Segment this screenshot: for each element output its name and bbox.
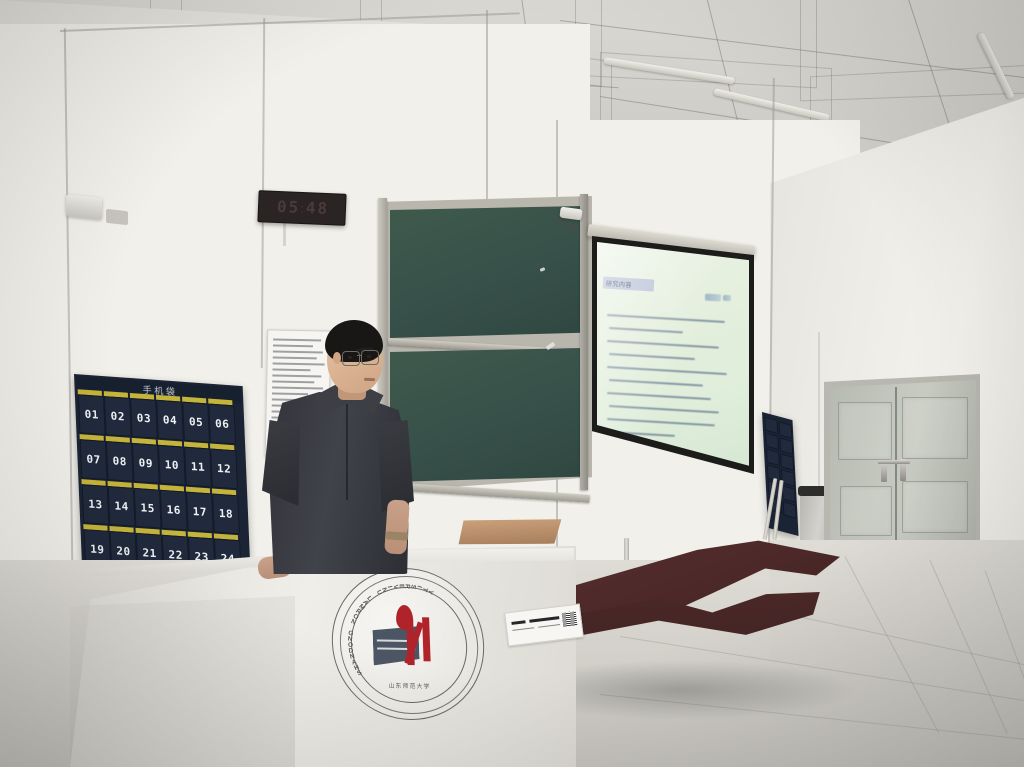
pocket-number: 06 xyxy=(215,417,230,431)
presenter-wristwatch xyxy=(386,531,409,541)
pocket-number: 18 xyxy=(219,507,234,521)
emblem-n-right xyxy=(422,617,431,661)
phone-pocket[interactable]: 07 xyxy=(80,439,108,480)
presenter-mouth xyxy=(364,378,375,381)
phone-pocket[interactable]: 05 xyxy=(182,402,210,443)
pocket-number: 19 xyxy=(90,542,105,556)
phone-pocket[interactable]: 08 xyxy=(106,441,134,482)
pocket-number: 20 xyxy=(116,544,131,558)
double-door[interactable] xyxy=(830,380,976,564)
presenter-eye xyxy=(348,356,352,359)
presenter-left-forearm xyxy=(384,499,410,554)
phone-pocket[interactable]: 06 xyxy=(208,404,236,445)
emblem-arc-char: L xyxy=(365,595,373,602)
digital-wall-clock: 0 5 : 4 8 xyxy=(257,190,346,226)
phone-pocket[interactable]: 02 xyxy=(104,396,132,437)
clock-digit: 4 xyxy=(305,200,315,216)
chalkboard-surface-lower xyxy=(390,348,582,482)
classroom-photo: 0 5 : 4 8 手 机 袋 010203040506070809101112… xyxy=(0,0,1024,767)
emblem-arc-char: Y xyxy=(426,588,434,595)
pocket-number: 17 xyxy=(192,505,207,519)
phone-pocket[interactable]: 04 xyxy=(156,400,184,441)
wall-sensor-unit xyxy=(66,194,102,220)
pocket-number: 14 xyxy=(114,499,129,513)
door-panel xyxy=(902,397,968,459)
phone-pocket[interactable]: 18 xyxy=(212,493,240,534)
door-panel xyxy=(902,481,968,533)
pocket-number: 09 xyxy=(138,456,153,470)
eyeglasses-bridge xyxy=(357,355,362,356)
pocket-number: 15 xyxy=(140,501,155,515)
phone-pocket[interactable]: 10 xyxy=(158,445,186,486)
door-center-gap xyxy=(895,387,897,555)
emblem-chinese-text: 山东师范大学 xyxy=(388,681,430,691)
chalkboard-surface-upper xyxy=(390,206,582,338)
pocket-number: 16 xyxy=(166,503,181,517)
presenter-right-sleeve xyxy=(378,420,414,512)
pocket-number: 04 xyxy=(163,413,178,427)
presenter-eye xyxy=(367,355,371,358)
pocket-number: 10 xyxy=(164,458,179,472)
pocket-number: 12 xyxy=(217,462,232,476)
phone-pocket[interactable]: 12 xyxy=(210,449,238,490)
pocket-number: 13 xyxy=(88,498,103,512)
phone-pocket[interactable]: 09 xyxy=(132,443,160,484)
door-panel xyxy=(838,402,892,460)
phone-pocket[interactable]: 11 xyxy=(184,447,212,488)
phone-pocket[interactable]: 03 xyxy=(130,398,158,439)
pocket-number: 03 xyxy=(136,411,151,425)
pocket-number: 02 xyxy=(110,409,125,423)
door-panel xyxy=(840,486,892,536)
clock-digit: 8 xyxy=(317,201,327,217)
presenter-ear xyxy=(333,352,341,364)
pocket-number: 01 xyxy=(84,408,99,422)
university-emblem: SHANDONG NORMAL UNIVERSITY 山东师范大学 xyxy=(329,567,486,722)
pocket-number: 05 xyxy=(189,415,204,429)
phone-pocket[interactable]: 14 xyxy=(108,486,136,527)
presenter-shirt-placket xyxy=(346,404,348,500)
clock-colon: : xyxy=(300,201,304,214)
phone-pocket[interactable]: 13 xyxy=(82,484,110,525)
phone-pocket[interactable]: 15 xyxy=(134,488,162,529)
clock-digit: 0 xyxy=(277,199,287,215)
pocket-number: 21 xyxy=(142,546,157,560)
podium-left-face xyxy=(70,596,295,767)
pocket-number: 08 xyxy=(112,454,127,468)
wall-speaker xyxy=(106,209,128,225)
qr-code xyxy=(562,611,578,627)
podium-desk-surface xyxy=(457,515,562,548)
door-handle-bar[interactable] xyxy=(878,460,910,464)
pocket-number: 11 xyxy=(191,460,206,474)
clock-digit: 5 xyxy=(288,199,298,215)
phone-pocket[interactable]: 01 xyxy=(78,394,106,435)
phone-pocket[interactable]: 17 xyxy=(186,492,214,533)
pocket-number: 07 xyxy=(86,453,101,467)
phone-pocket[interactable]: 16 xyxy=(160,490,188,531)
